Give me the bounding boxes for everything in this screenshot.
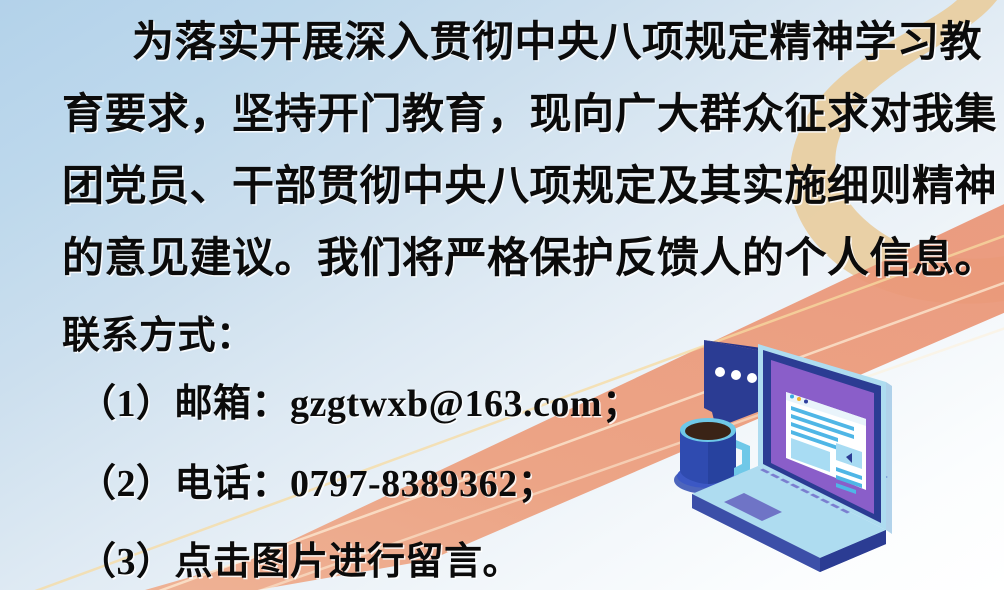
- paragraph-line-3: 团党员、干部贯彻中央八项规定及其实施细则精神: [62, 166, 997, 208]
- contact-label-email: 邮箱：: [175, 383, 291, 425]
- poster-canvas: 为落实开展深入贯彻中央八项规定精神学习教 育要求，坚持开门教育，现向广大群众征求…: [0, 0, 1004, 590]
- contact-marker-1: （1）: [78, 383, 175, 425]
- contact-value-email[interactable]: gzgtwxb@163.com；: [290, 383, 640, 425]
- contact-value-phone[interactable]: 0797-8389362；: [290, 463, 556, 505]
- contact-marker-3: （3）: [78, 541, 175, 583]
- contact-label-click-image: 点击图片进行留言。: [175, 541, 522, 583]
- paragraph-line-2: 育要求，坚持开门教育，现向广大群众征求对我集: [62, 94, 997, 136]
- poster-text: 为落实开展深入贯彻中央八项规定精神学习教 育要求，坚持开门教育，现向广大群众征求…: [0, 0, 1004, 590]
- contact-item-click-image[interactable]: （3）点击图片进行留言。: [78, 530, 521, 585]
- paragraph-line-1: 为落实开展深入贯彻中央八项规定精神学习教: [132, 22, 982, 64]
- contact-item-email[interactable]: （1）邮箱：gzgtwxb@163.com；: [78, 372, 641, 427]
- contact-marker-2: （2）: [78, 463, 175, 505]
- paragraph-line-4: 的意见建议。我们将严格保护反馈人的个人信息。: [62, 238, 997, 280]
- contact-heading: 联系方式：: [62, 304, 255, 359]
- contact-item-phone[interactable]: （2）电话：0797-8389362；: [78, 452, 556, 507]
- contact-label-phone: 电话：: [175, 463, 291, 505]
